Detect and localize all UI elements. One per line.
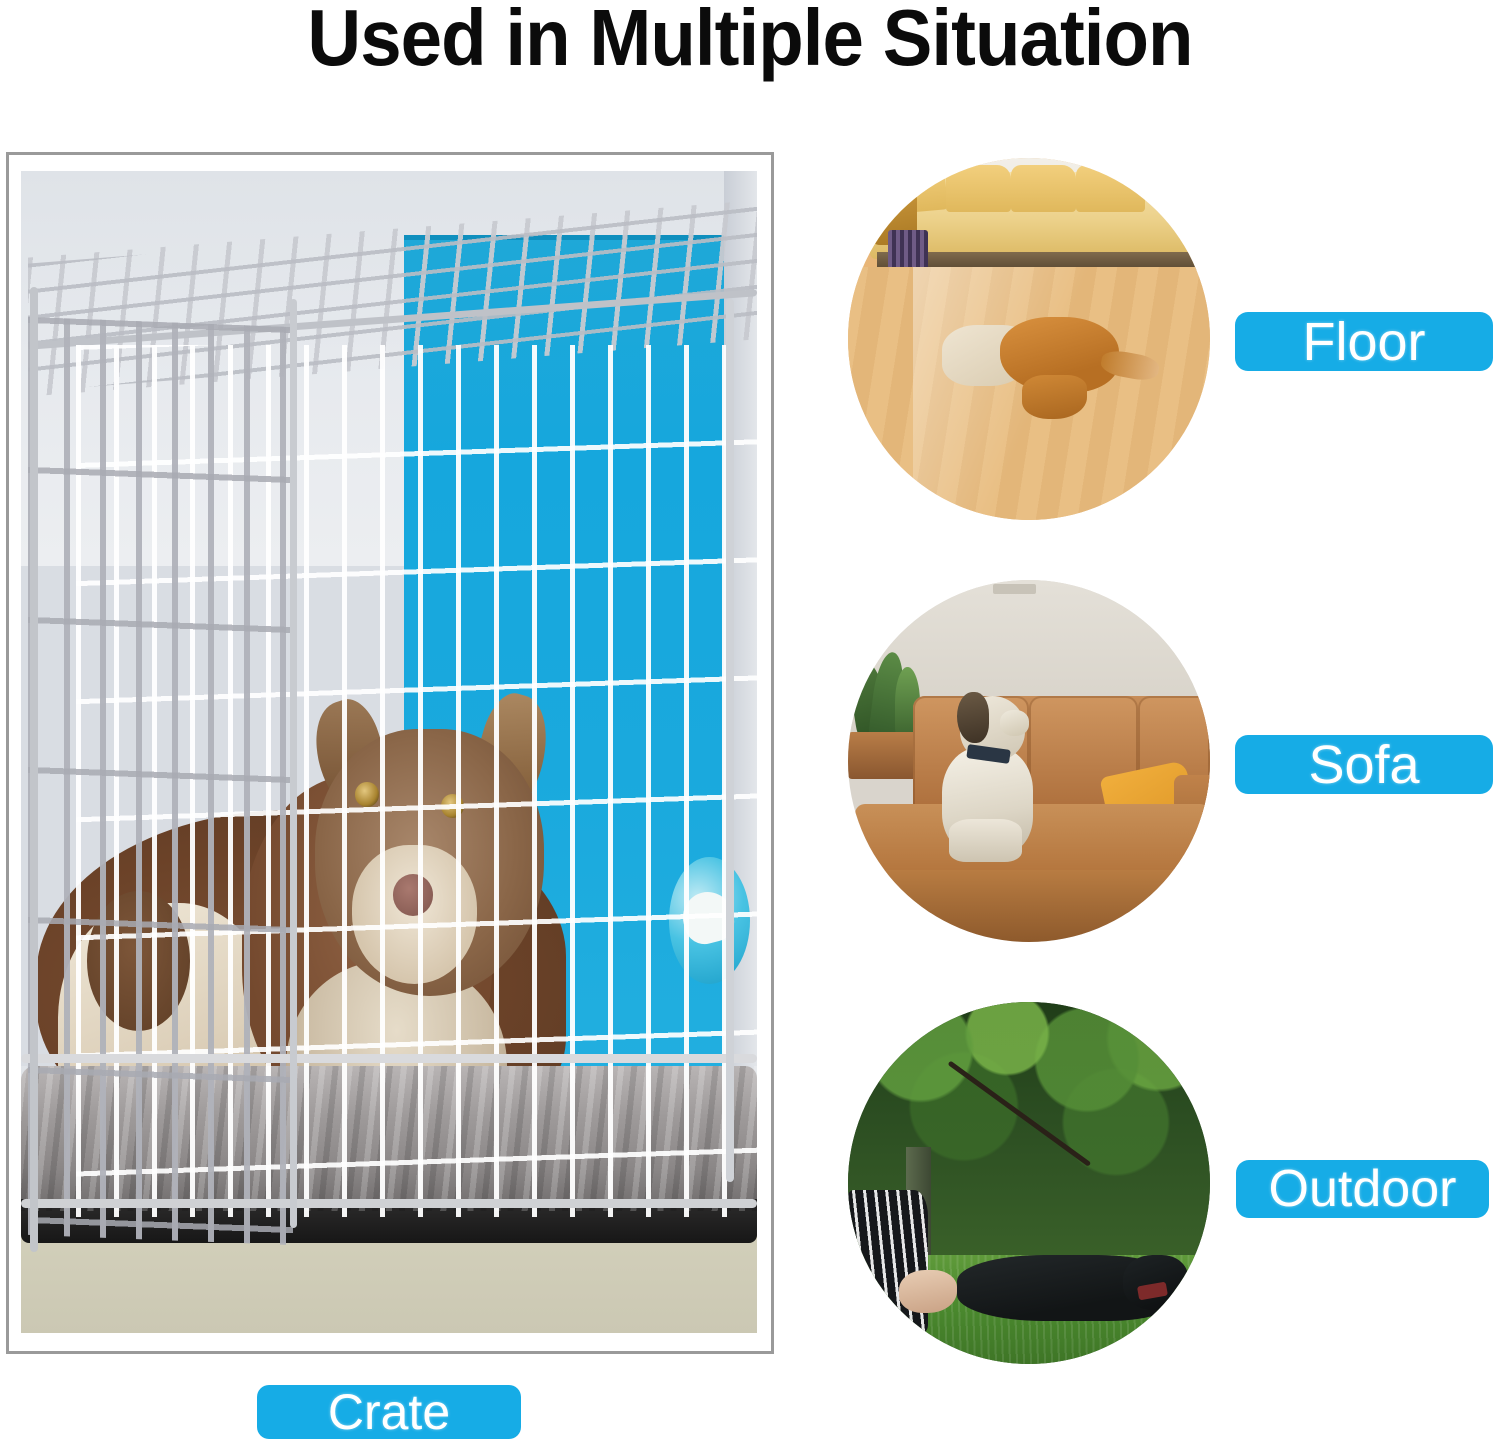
- crate-door-cross: [28, 317, 293, 1245]
- sofa-scene-seat-front: [855, 870, 1210, 942]
- label-badge-sofa: Sofa: [1235, 735, 1493, 794]
- situation-photo-outdoor: [848, 1002, 1210, 1364]
- situation-photo-sofa: [848, 580, 1210, 942]
- floor-scene-cushion: [1076, 165, 1145, 212]
- sofa-scene-dog-ear: [957, 692, 990, 743]
- outdoor-scene-person: [848, 1190, 928, 1335]
- page-title: Used in Multiple Situation: [53, 0, 1448, 80]
- crate-bottom-rail: [21, 1199, 757, 1208]
- crate-center-post: [290, 299, 297, 1229]
- sofa-scene-vent: [993, 584, 1036, 595]
- crate-left-post: [30, 287, 38, 1251]
- crate-photo-frame: [6, 152, 774, 1354]
- crate-mid-rail: [21, 1054, 757, 1063]
- label-badge-outdoor: Outdoor: [1236, 1160, 1489, 1218]
- floor-scene-cushion: [1011, 165, 1076, 212]
- sofa-scene-dog-snout: [1000, 710, 1029, 735]
- floor-scene-cushion: [946, 165, 1011, 212]
- label-badge-floor: Floor: [1235, 312, 1493, 371]
- floor-scene: [848, 158, 1210, 520]
- label-badge-crate: Crate: [257, 1385, 521, 1439]
- outdoor-scene-hand: [899, 1270, 957, 1313]
- outdoor-scene: [848, 1002, 1210, 1364]
- situation-photo-floor: [848, 158, 1210, 520]
- sofa-scene: [848, 580, 1210, 942]
- crate-photo: [21, 171, 757, 1333]
- wire-crate-overlay: [21, 171, 757, 1333]
- sofa-scene-dog-legs: [949, 819, 1021, 862]
- floor-scene-dog-legs: [1022, 375, 1087, 418]
- crate-right-post: [726, 299, 734, 1182]
